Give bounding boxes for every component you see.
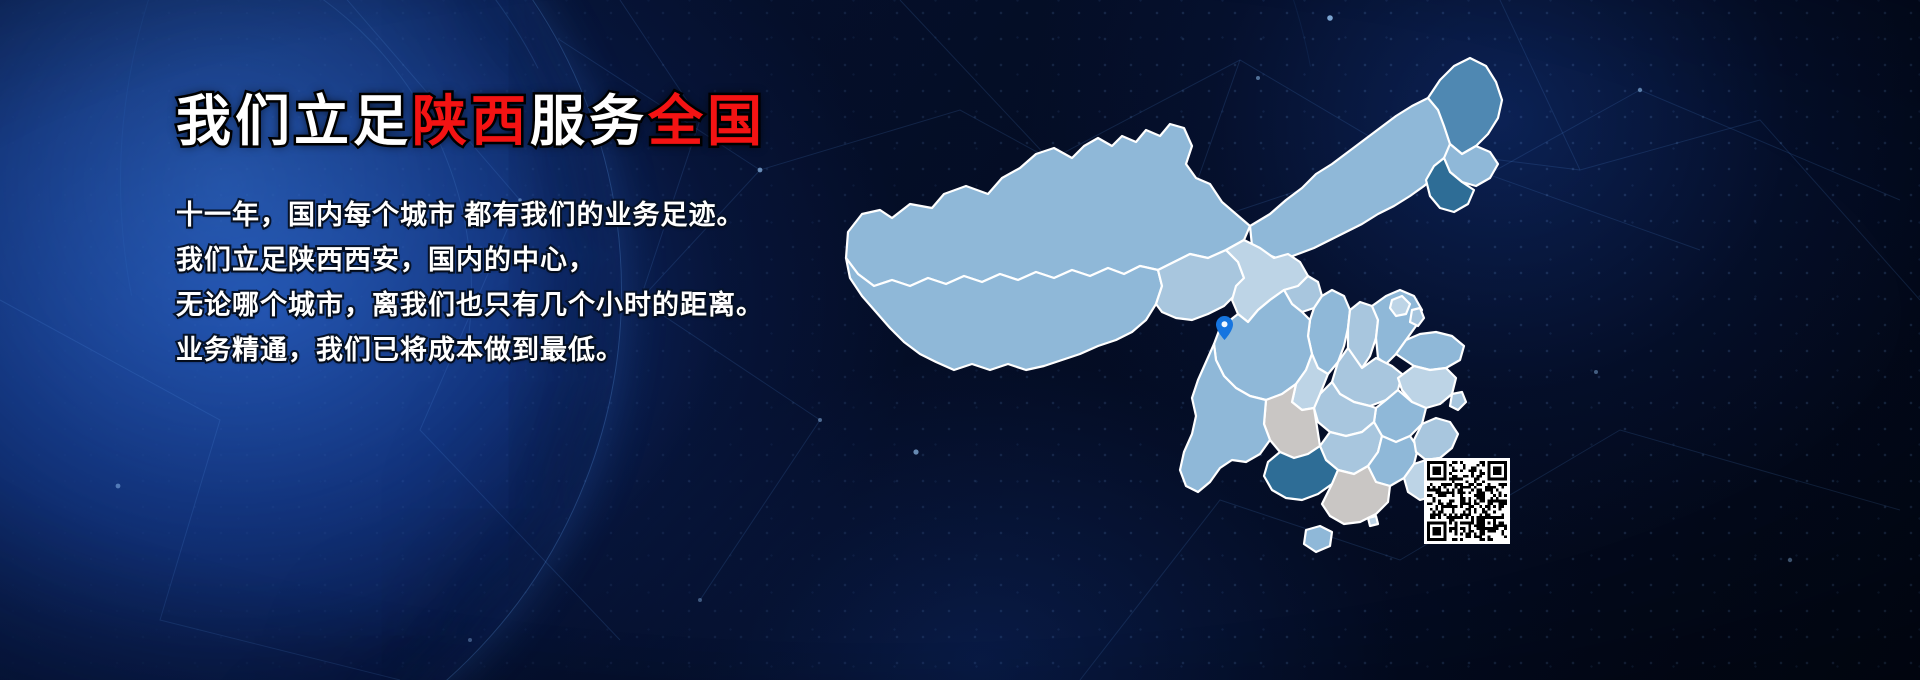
headline-segment-1: 我们立足 <box>176 90 412 152</box>
body-line: 我们立足陕西西安，国内的中心， <box>176 245 596 275</box>
headline-segment-2: 陕西 <box>412 90 530 152</box>
promo-banner: 我们立足陕西服务全国 十一年，国内每个城市 都有我们的业务足迹。 我们立足陕西西… <box>0 0 1920 680</box>
page-title: 我们立足陕西服务全国 <box>176 88 766 154</box>
location-pin-icon <box>1216 316 1233 340</box>
headline-segment-4: 全国 <box>648 90 766 152</box>
body-line: 业务精通，我们已将成本做到最低。 <box>176 335 624 365</box>
headline-segment-3: 服务 <box>530 90 648 152</box>
body-line: 无论哪个城市，离我们也只有几个小时的距离。 <box>176 290 764 320</box>
qr-canvas <box>1427 461 1507 541</box>
qr-code[interactable] <box>1424 458 1510 544</box>
body-line: 十一年，国内每个城市 都有我们的业务足迹。 <box>176 200 745 230</box>
